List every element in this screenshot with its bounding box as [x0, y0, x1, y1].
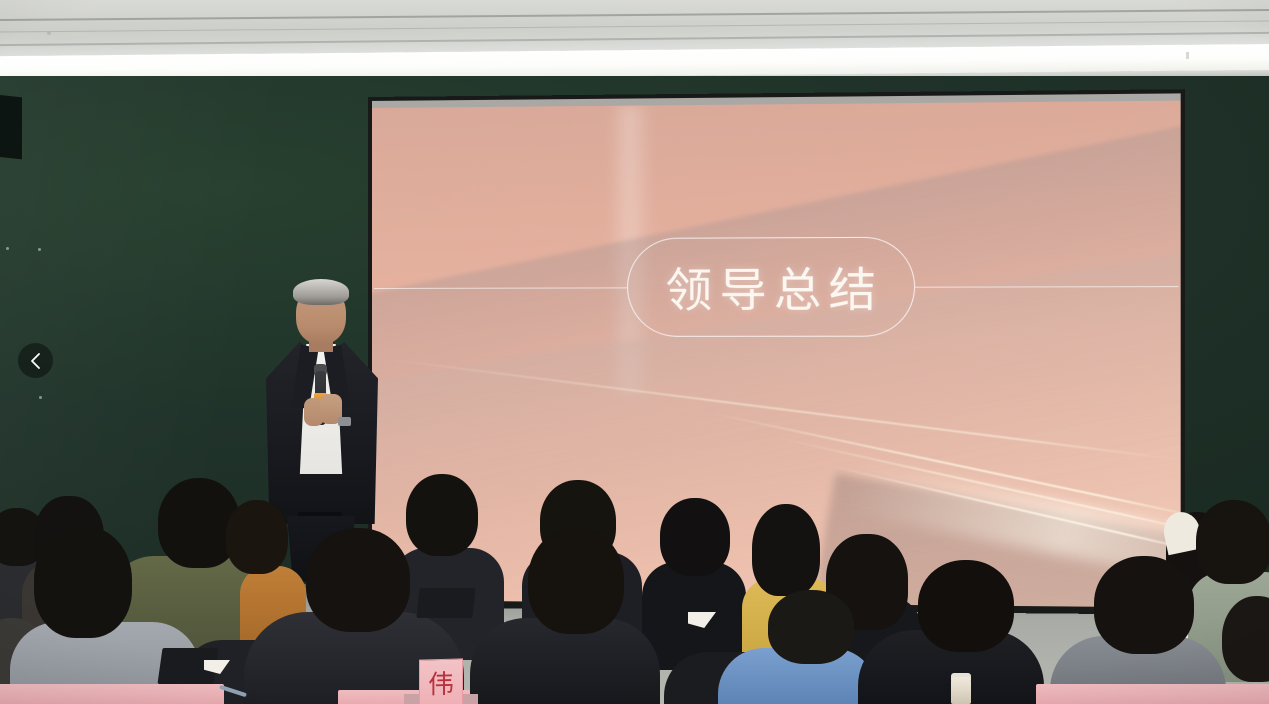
prev-button[interactable]	[18, 343, 53, 378]
presenter-hair	[293, 279, 349, 305]
attendee-head	[226, 500, 288, 574]
attendee-head	[660, 498, 730, 576]
light-mount-nub	[1186, 52, 1189, 59]
slide-title: 领导总结	[658, 253, 883, 321]
attendee-head	[918, 560, 1014, 652]
wall-speck	[6, 247, 9, 250]
nameplate: 伟	[419, 658, 463, 704]
attendee-head	[406, 474, 478, 556]
wall-speck	[38, 248, 41, 251]
attendee-head	[768, 590, 854, 664]
laptop	[416, 588, 475, 618]
attendee-head	[1094, 556, 1194, 654]
ceiling-screw	[47, 31, 51, 35]
chevron-left-icon	[29, 352, 43, 370]
water-bottle	[951, 677, 971, 704]
desk-surface	[1036, 684, 1269, 704]
photo-scene: 领导总结	[0, 0, 1269, 704]
attendee-head	[1196, 500, 1269, 584]
presenter-watch	[338, 417, 351, 426]
slide-title-pill: 领导总结	[627, 236, 915, 336]
attendee-head	[34, 526, 132, 638]
attendee-head	[306, 528, 410, 632]
nameplate-text: 伟	[428, 664, 454, 702]
attendee-head	[752, 504, 820, 596]
desk-surface	[0, 684, 224, 704]
attendee-head	[528, 528, 624, 634]
wall-speck	[39, 396, 42, 399]
wall-speaker	[0, 95, 22, 160]
